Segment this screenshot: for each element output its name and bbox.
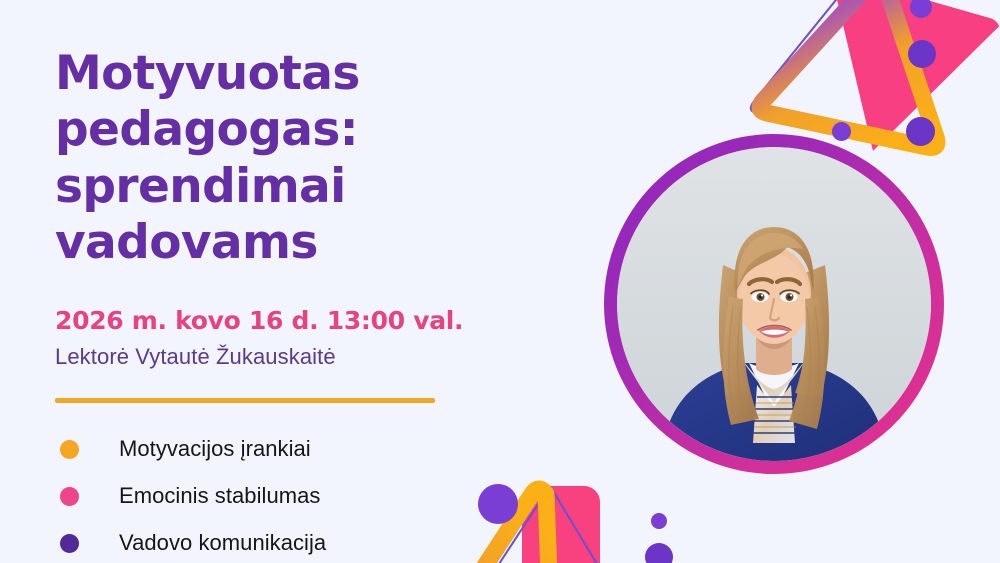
list-item: Vadovo komunikacija [55,520,575,563]
purple-dot [832,122,851,141]
portrait-photo [617,147,931,461]
purple-dot [908,40,936,68]
lecturer-name: Lektorė Vytautė Žukauskaitė [55,344,575,370]
webinar-promo-banner: Motyvuotas pedagogas: sprendimai vadovam… [0,0,1000,563]
topic-label: Motyvacijos įrankiai [119,436,311,462]
lecturer-portrait [617,147,931,461]
purple-dot [910,0,932,18]
thin-purple-triangle-outline [734,0,975,152]
title-line-2: sprendimai vadovams [55,159,595,272]
bullet-dot-icon [60,487,79,506]
page-title: Motyvuotas pedagogas: sprendimai vadovam… [55,46,595,272]
bullet-dot-icon [60,534,79,553]
topic-label: Emocinis stabilumas [119,483,320,509]
event-datetime: 2026 m. kovo 16 d. 13:00 val. [55,306,575,335]
list-item: Motyvacijos įrankiai [55,426,575,473]
topics-list: Motyvacijos įrankiai Emocinis stabilumas… [55,426,575,563]
content-column: Motyvuotas pedagogas: sprendimai vadovam… [55,0,575,563]
title-line-1: Motyvuotas pedagogas: [55,46,360,157]
bullet-dot-icon [60,440,79,459]
purple-dot [645,543,673,563]
topic-label: Vadovo komunikacija [119,530,326,556]
purple-dot [906,117,935,146]
purple-dot [651,513,667,529]
list-item: Emocinis stabilumas [55,473,575,520]
lecturer-portrait-ring [604,134,944,474]
divider-orange [55,398,435,403]
